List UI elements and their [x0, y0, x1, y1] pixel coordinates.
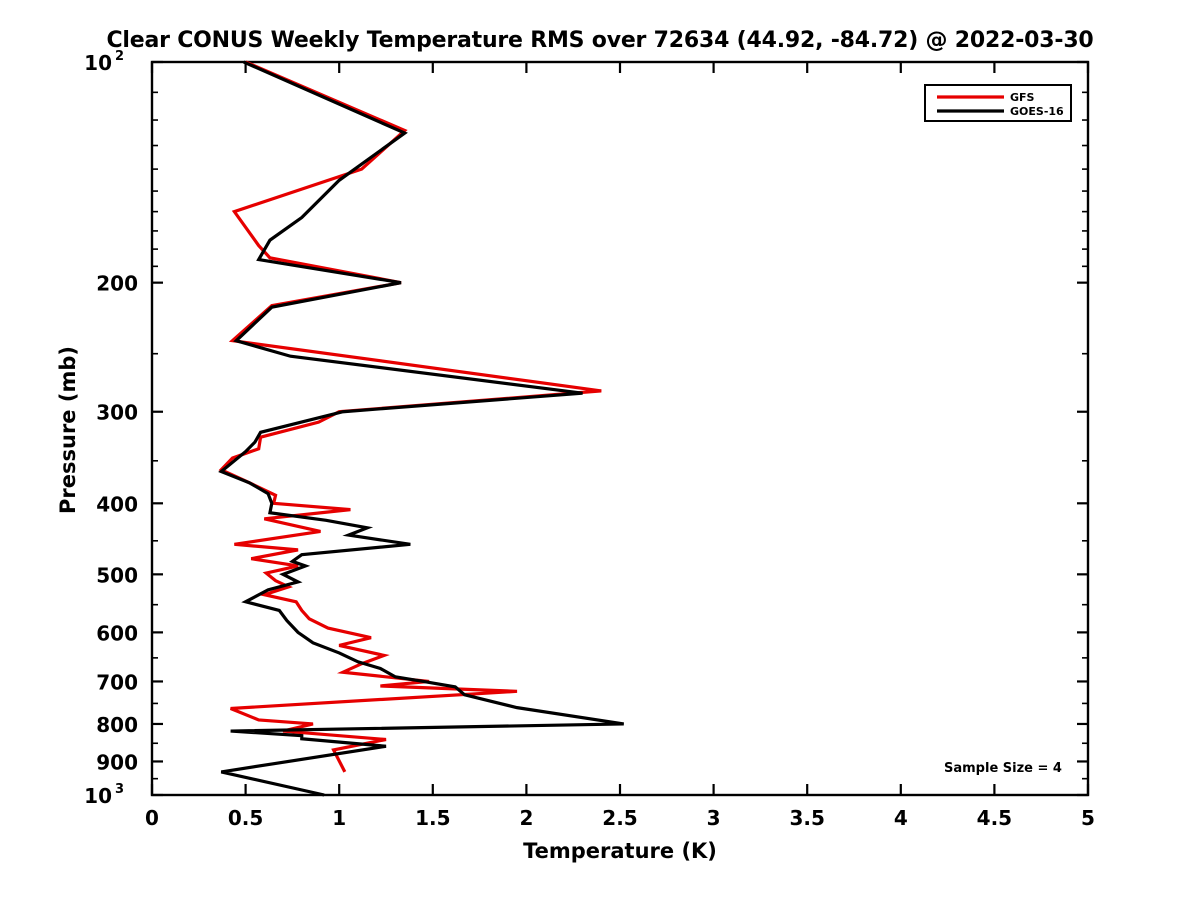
x-tick-label: 2.5	[602, 806, 637, 830]
y-tick-label: 300	[96, 401, 138, 425]
x-tick-label: 0.5	[228, 806, 263, 830]
svg-text:2: 2	[115, 49, 124, 64]
x-tick-label: 5	[1081, 806, 1095, 830]
legend-label-goes16: GOES-16	[1010, 105, 1064, 118]
svg-text:10: 10	[84, 51, 112, 75]
y-tick-label: 900	[96, 750, 138, 774]
y-tick-label: 102	[84, 49, 124, 75]
svg-text:3: 3	[115, 782, 124, 797]
svg-text:10: 10	[84, 784, 112, 808]
y-tick-label: 200	[96, 272, 138, 296]
legend: GFS GOES-16	[925, 85, 1071, 121]
sample-size-annotation: Sample Size = 4	[944, 761, 1062, 776]
x-tick-label: 3.5	[789, 806, 824, 830]
y-axis-ticks: 102200300400500600700800900103	[84, 49, 1088, 808]
x-tick-label: 4.5	[977, 806, 1012, 830]
y-tick-label: 600	[96, 621, 138, 645]
series-line-gfs	[221, 62, 601, 772]
series-line-goes-16	[221, 62, 623, 795]
x-tick-label: 4	[894, 806, 908, 830]
x-tick-label: 1.5	[415, 806, 450, 830]
y-tick-label: 103	[84, 782, 124, 808]
x-tick-label: 2	[519, 806, 533, 830]
x-tick-label: 0	[145, 806, 159, 830]
svg-text:900: 900	[96, 750, 138, 774]
temperature-rms-profile-plot: 00.511.522.533.544.55 102200300400500600…	[0, 0, 1200, 900]
x-axis-title: Temperature (K)	[523, 839, 717, 863]
legend-label-gfs: GFS	[1010, 91, 1035, 104]
svg-text:300: 300	[96, 401, 138, 425]
y-axis-minor-ticks	[152, 92, 1088, 778]
x-axis-ticks: 00.511.522.533.544.55	[145, 62, 1095, 830]
y-tick-label: 800	[96, 713, 138, 737]
chart-figure: Clear CONUS Weekly Temperature RMS over …	[0, 0, 1200, 900]
svg-text:700: 700	[96, 670, 138, 694]
svg-text:400: 400	[96, 492, 138, 516]
svg-text:600: 600	[96, 621, 138, 645]
data-series-layer	[221, 62, 623, 795]
y-tick-label: 500	[96, 563, 138, 587]
y-tick-label: 700	[96, 670, 138, 694]
y-axis-title: Pressure (mb)	[56, 346, 80, 514]
y-tick-label: 400	[96, 492, 138, 516]
x-tick-label: 1	[332, 806, 346, 830]
svg-text:200: 200	[96, 272, 138, 296]
x-tick-label: 3	[707, 806, 721, 830]
svg-text:500: 500	[96, 563, 138, 587]
svg-text:800: 800	[96, 713, 138, 737]
